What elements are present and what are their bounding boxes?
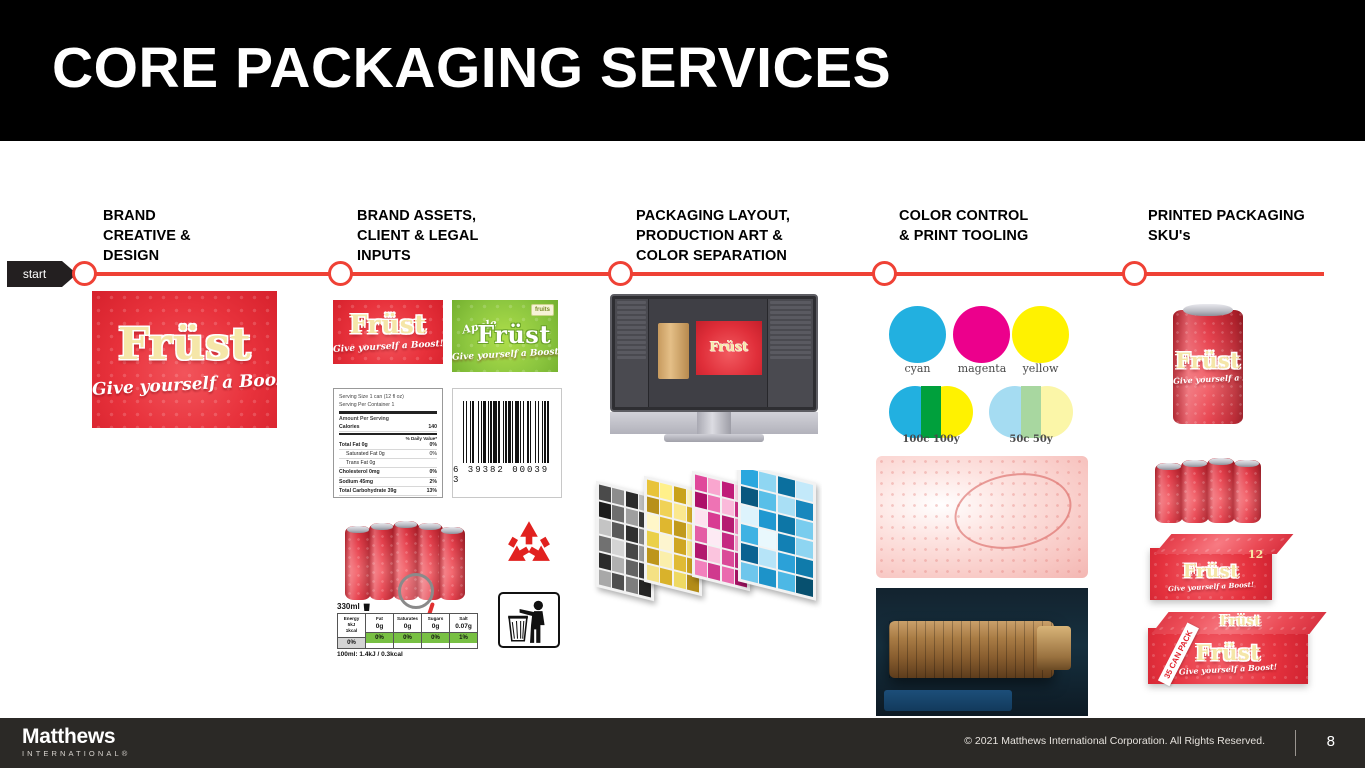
slide-footer: Matthews INTERNATIONAL® © 2021 Matthews … (0, 718, 1365, 768)
frust-tagline-text: Give yourself a Boost! (92, 370, 277, 400)
asset-can-4-top (419, 523, 441, 530)
asset-can-1 (345, 526, 371, 600)
frust-key-visual: Früst Give yourself a Boost! (92, 291, 277, 428)
traffic-light-column: Sugars0g0% (421, 613, 450, 649)
tidyman-bin-icon (498, 592, 560, 648)
color-separation-plates (592, 470, 822, 610)
brand-asset-green-pack: Apple Früst Give yourself a Boost! fruit… (452, 300, 558, 372)
multipack-can-2 (1181, 460, 1209, 523)
nutrition-calories-label: Calories (339, 423, 359, 431)
nutrition-row: Sodium 45mg2% (339, 478, 437, 487)
swatch-cyan (889, 306, 946, 363)
nutrition-row-label: Dietary Fiber 0g (346, 496, 383, 498)
software-right-panel[interactable] (767, 299, 813, 407)
nutrition-row-dv: 0% (430, 496, 438, 498)
timeline-start-tag: start (7, 261, 77, 287)
traffic-light-column: Salt0.07g1% (449, 613, 478, 649)
frust-red-pack-art: Früst Give yourself a Boost! (333, 300, 443, 364)
monitor-screen: Früst (615, 299, 813, 407)
traffic-light-column-name: Sugars (422, 614, 449, 623)
viewport-label-logo: Früst (710, 340, 749, 355)
traffic-light-column: Energy 5kJ 1kcal0% (337, 613, 366, 649)
green-pack-badge: fruits (531, 304, 554, 316)
brand-creative-artwork: Früst Give yourself a Boost! (92, 291, 277, 428)
nutrition-row-dv: 13% (427, 487, 437, 495)
green-pack-logo: Früst (470, 320, 558, 349)
nutrition-rule-mid (339, 433, 437, 435)
timeline-node-4[interactable] (872, 261, 897, 286)
slide-header: CORE PACKAGING SERVICES (0, 0, 1365, 141)
matthews-logo-brand: Matthews (22, 726, 130, 748)
tidyman-icon-svg (501, 595, 559, 647)
cylinder-machine-base (884, 690, 1011, 710)
barcode-panel: 6 39382 00039 3 (452, 388, 562, 498)
traffic-light-column: Saturates0g0% (393, 613, 422, 649)
frust-logo-text: Früst (92, 319, 277, 370)
matthews-logo-subtitle: INTERNATIONAL® (22, 749, 130, 758)
multipack-can-4 (1233, 460, 1261, 523)
traffic-light-column-percent: 0% (394, 632, 421, 643)
software-left-panel[interactable] (615, 299, 649, 407)
printed-multipack-cans (1155, 455, 1275, 525)
monitor-bezel: Früst (610, 294, 818, 412)
swatch-yellow (1012, 306, 1069, 363)
frust-green-pack-art: Apple Früst Give yourself a Boost! fruit… (452, 300, 558, 372)
single-can-body: Früst Give yourself a Boost! (1173, 310, 1243, 424)
separation-plate-cyan (738, 470, 816, 601)
nutrition-row: Total Carbohydrate 39g13% (339, 487, 437, 496)
nutrition-rows: Total Fat 0g0%Saturated Fat 0g0%Trans Fa… (339, 441, 437, 498)
cylinder-body (889, 621, 1054, 677)
stage-heading-packaging-layout: PACKAGING LAYOUT, PRODUCTION ART & COLOR… (636, 206, 856, 266)
footer-divider (1295, 730, 1296, 756)
nutrition-serving-size: Serving Size 1 can (12 fl oz) (339, 393, 437, 401)
traffic-light-column-name: Energy 5kJ 1kcal (338, 614, 365, 635)
overlap-2-label: 50c 50y (985, 434, 1077, 445)
traffic-light-column-value: 0g (366, 623, 393, 632)
traffic-light-volume: 330ml (337, 602, 360, 611)
cylinder-engraving-grid (889, 621, 1054, 677)
traffic-light-footnote: 100ml: 1.4kJ / 0.3kcal (337, 651, 477, 658)
barcode-digits: 6 39382 00039 3 (453, 465, 561, 485)
shrink-sleeve-photo (876, 456, 1088, 578)
monitor-stand-foot (664, 434, 764, 442)
nutrition-row: Dietary Fiber 0g0% (339, 496, 437, 498)
recycle-icon-svg (500, 518, 558, 573)
overlap-1-label: 100c 100y (885, 434, 977, 445)
nutrition-row: Cholesterol 0mg0% (339, 468, 437, 477)
timeline-node-5[interactable] (1122, 261, 1147, 286)
nutrition-facts-panel: Serving Size 1 can (12 fl oz) Serving Pe… (333, 388, 443, 498)
nutrition-row-label: Sodium 45mg (339, 478, 373, 486)
traffic-light-column-value: 0g (394, 623, 421, 632)
traffic-light-column-name: Salt (450, 614, 477, 623)
page-title: CORE PACKAGING SERVICES (52, 40, 891, 97)
copyright-text: © 2021 Matthews International Corporatio… (964, 735, 1265, 747)
nutrition-row-label: Total Carbohydrate 39g (339, 487, 397, 495)
traffic-light-column-value: 0g (422, 623, 449, 632)
red-pack-logo: Früst (333, 310, 443, 339)
brand-asset-red-pack: Früst Give yourself a Boost! (333, 300, 443, 364)
nutrition-row-dv: 0% (430, 450, 438, 458)
printed-single-can: Früst Give yourself a Boost! (1173, 300, 1243, 425)
asset-can-2 (369, 523, 395, 600)
nutrition-amount-heading: Amount Per Serving (339, 415, 437, 423)
nutrition-calories-value: 140 (428, 423, 437, 431)
swatch-magenta (953, 306, 1010, 363)
viewport-3d-carton (658, 323, 689, 379)
nutrition-row-label: Trans Fat 0g (346, 459, 375, 467)
nutrition-row-dv: 2% (430, 478, 438, 486)
traffic-light-column-percent: 0% (366, 632, 393, 643)
traffic-light-nutrition-panel: 330ml Energy 5kJ 1kcal0%Fat0g0%Saturates… (337, 602, 477, 658)
nutrition-row-dv: 0% (430, 468, 438, 476)
asset-can-5-top (441, 527, 463, 534)
single-can-lid (1183, 304, 1233, 316)
stage-heading-brand-assets: BRAND ASSETS, CLIENT & LEGAL INPUTS (357, 206, 537, 266)
asset-can-5 (439, 527, 465, 600)
viewport-label-artwork: Früst (696, 321, 761, 375)
single-can-tagline: Give yourself a Boost! (1173, 372, 1243, 386)
traffic-light-column-value: 0.07g (450, 623, 477, 632)
nutrition-row-label: Saturated Fat 0g (346, 450, 385, 458)
timeline-node-3[interactable] (608, 261, 633, 286)
software-viewport[interactable]: Früst (649, 299, 768, 407)
timeline-node-2[interactable] (328, 261, 353, 286)
traffic-light-column-percent: 1% (450, 632, 477, 643)
nutrition-row-dv: 0% (430, 441, 438, 449)
asset-can-3-top (395, 521, 417, 528)
traffic-light-column-name: Saturates (394, 614, 421, 623)
barcode-bars (463, 401, 552, 463)
print-cylinder-photo (876, 588, 1088, 716)
swatch-yellow-label: yellow (1009, 362, 1072, 375)
desktop-monitor: Früst (610, 294, 818, 449)
nutrition-row: Total Fat 0g0% (339, 441, 437, 450)
overlap-2-mix (1021, 386, 1041, 438)
red-pack-tagline: Give yourself a Boost! (333, 339, 443, 355)
stage-heading-color-control: COLOR CONTROL & PRINT TOOLING (899, 206, 1114, 246)
single-can-logo: Früst (1173, 348, 1243, 373)
stage-heading-brand-creative: BRAND CREATIVE & DESIGN (103, 206, 253, 266)
shrink-sleeve-ring (948, 464, 1077, 557)
nutrition-row-label: Cholesterol 0mg (339, 468, 380, 476)
trash-bin-icon (363, 602, 371, 611)
multipack-can-3 (1207, 458, 1235, 523)
nutrition-rule-top (339, 411, 437, 414)
matthews-logo: Matthews INTERNATIONAL® (22, 726, 130, 758)
page-number: 8 (1327, 733, 1335, 750)
green-pack-tagline: Give yourself a Boost! (452, 347, 558, 363)
overlap-1-mix (921, 386, 941, 438)
nutrition-row-label: Total Fat 0g (339, 441, 368, 449)
nutrition-row: Saturated Fat 0g0% (339, 450, 437, 459)
traffic-light-column-percent: 0% (422, 632, 449, 643)
multipack-can-1 (1155, 463, 1183, 523)
timeline-node-1[interactable] (72, 261, 97, 286)
traffic-light-column: Fat0g0% (365, 613, 394, 649)
start-tag-label: start (7, 261, 62, 287)
monitor-stand-neck (697, 412, 731, 434)
carton-12-top-face (1155, 534, 1294, 554)
carton-12-count-label: 12 (1248, 548, 1263, 561)
asset-can-2-top (371, 523, 393, 530)
swatch-magenta-label: magenta (947, 362, 1017, 375)
recycle-icon (500, 518, 558, 573)
swatch-cyan-label: cyan (889, 362, 946, 375)
cmyk-swatch-diagram: cyan magenta yellow 100c 100y 50c 50y (885, 300, 1085, 445)
nutrition-row: Trans Fat 0g (339, 459, 437, 468)
traffic-light-header: 330ml (337, 602, 477, 611)
nutrition-calories-row: Calories 140 (339, 423, 437, 432)
nutrition-servings-per-container: Serving Per Container 1 (339, 401, 437, 409)
stage-heading-printed-packaging: PRINTED PACKAGING SKU's (1148, 206, 1363, 246)
traffic-light-column-percent: 0% (338, 637, 365, 648)
traffic-light-column-name: Fat (366, 614, 393, 623)
asset-can-1-top (347, 526, 369, 533)
traffic-light-table: Energy 5kJ 1kcal0%Fat0g0%Saturates0g0%Su… (337, 613, 477, 649)
cylinder-end-cap (1037, 626, 1071, 670)
carton-35-top-face: Früst (1151, 612, 1326, 634)
